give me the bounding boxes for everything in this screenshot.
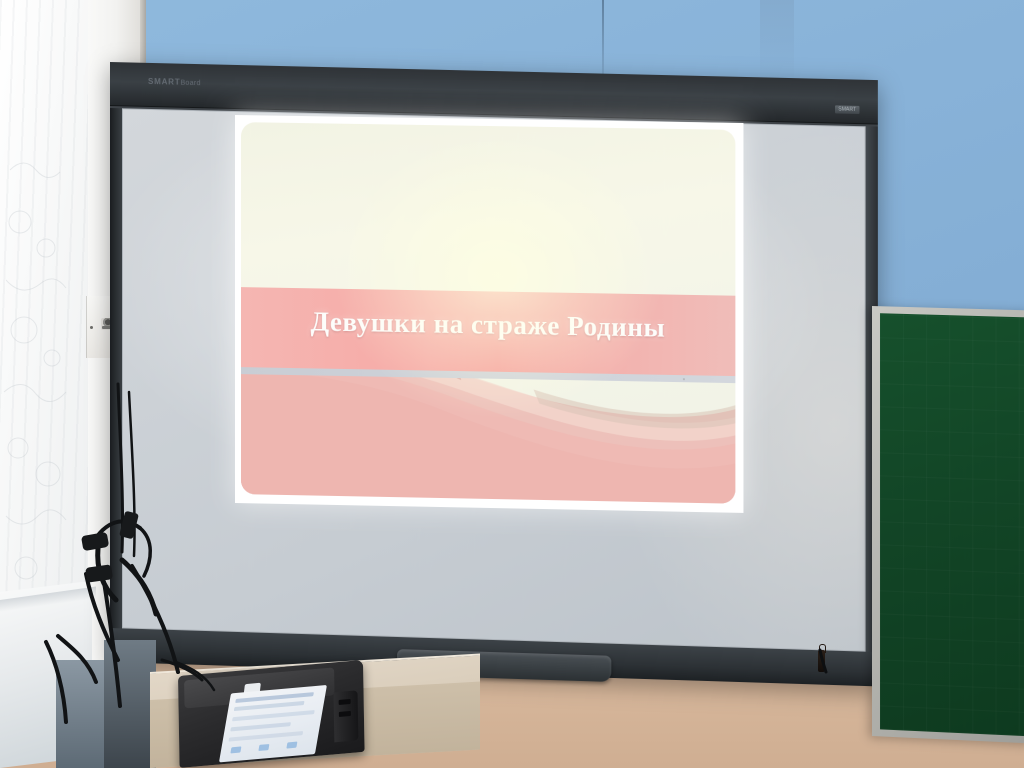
board-under-gap: [104, 640, 156, 768]
printer-panel-button[interactable]: [258, 744, 269, 751]
slide-content: Девушки на страже Родины: [241, 122, 735, 504]
indicator-dot-icon: [90, 326, 93, 329]
chalkboard-frame: [872, 306, 1024, 744]
wall-clip: [818, 650, 825, 672]
office-printer[interactable]: [178, 660, 365, 768]
board-right-badge: SMART: [835, 105, 859, 114]
smart-brand-text: SMART: [148, 77, 180, 87]
dust-speck: [683, 378, 685, 380]
printer-panel-button[interactable]: [286, 742, 297, 749]
printer-panel-button[interactable]: [230, 746, 241, 753]
printer-control-panel[interactable]: [219, 685, 327, 762]
chalkboard[interactable]: [872, 306, 1024, 746]
printer-port-slot: [339, 711, 351, 717]
printer-port-slot: [339, 699, 351, 705]
classroom-scene: SMARTBoard SMART: [0, 0, 1024, 768]
projected-slide[interactable]: Девушки на страже Родины: [235, 115, 743, 513]
smart-brand-logo: SMARTBoard: [148, 77, 201, 87]
smart-brand-subtext: Board: [181, 80, 201, 87]
chalkboard-surface[interactable]: [880, 313, 1024, 736]
lace-pattern-icon: [2, 130, 68, 650]
